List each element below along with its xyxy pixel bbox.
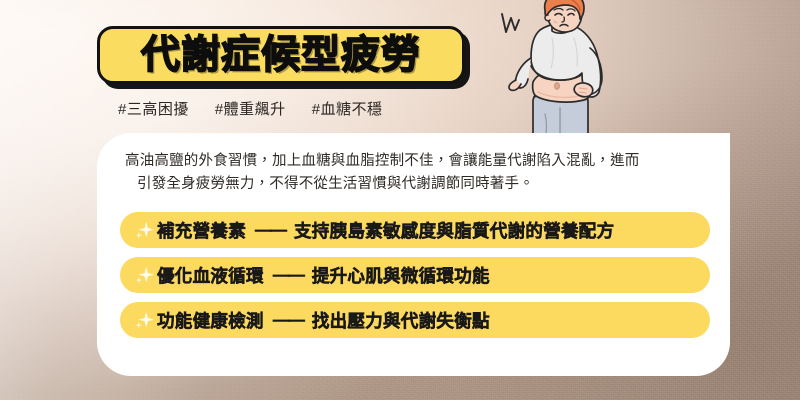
- tired-person-illustration: [478, 0, 668, 146]
- hashtag-item-1: #體重飆升: [215, 98, 286, 119]
- content-card: 高油高鹽的外食習慣，加上血糖與血脂控制不佳，會讓能量代謝陷入混亂，進而 引發全身…: [97, 133, 730, 376]
- benefit-row-dash-2: ——: [273, 310, 303, 330]
- benefit-row-1[interactable]: 優化血液循環 —— 提升心肌與微循環功能: [120, 257, 710, 293]
- benefit-row-dash-1: ——: [273, 265, 303, 285]
- benefit-row-label-0: 補充營養素: [157, 218, 246, 243]
- title-badge: 代謝症候型疲勞: [97, 26, 465, 84]
- benefit-row-0[interactable]: 補充營養素 —— 支持胰島素敏感度與脂質代謝的營養配方: [120, 212, 710, 248]
- intro-paragraph-line-2: 引發全身疲勞無力，不得不從生活習慣與代謝調節同時著手。: [125, 173, 710, 196]
- benefit-row-list: 補充營養素 —— 支持胰島素敏感度與脂質代謝的營養配方 優化血液循環 —— 提升…: [120, 212, 710, 338]
- benefit-row-label-1: 優化血液循環: [157, 263, 264, 288]
- stress-squiggle-icon: [502, 14, 519, 32]
- benefit-row-dash-0: ——: [255, 220, 285, 240]
- benefit-row-label-2: 功能健康檢測: [157, 308, 264, 333]
- hashtag-list: #三高困擾 #體重飆升 #血糖不穩: [118, 98, 383, 119]
- benefit-row-desc-2: 找出壓力與代謝失衡點: [312, 308, 490, 333]
- sparkle-icon: [134, 220, 155, 241]
- sparkle-icon: [134, 310, 155, 331]
- page-title: 代謝症候型疲勞: [141, 36, 421, 75]
- hashtag-item-2: #血糖不穩: [312, 98, 383, 119]
- benefit-row-desc-1: 提升心肌與微循環功能: [312, 263, 490, 288]
- hashtag-item-0: #三高困擾: [118, 98, 189, 119]
- benefit-row-desc-0: 支持胰島素敏感度與脂質代謝的營養配方: [294, 218, 614, 243]
- intro-paragraph-line-1: 高油高鹽的外食習慣，加上血糖與血脂控制不佳，會讓能量代謝陷入混亂，進而: [125, 153, 640, 169]
- intro-paragraph: 高油高鹽的外食習慣，加上血糖與血脂控制不佳，會讓能量代謝陷入混亂，進而 引發全身…: [125, 150, 710, 197]
- benefit-row-2[interactable]: 功能健康檢測 —— 找出壓力與代謝失衡點: [120, 302, 710, 338]
- sparkle-icon: [134, 265, 155, 286]
